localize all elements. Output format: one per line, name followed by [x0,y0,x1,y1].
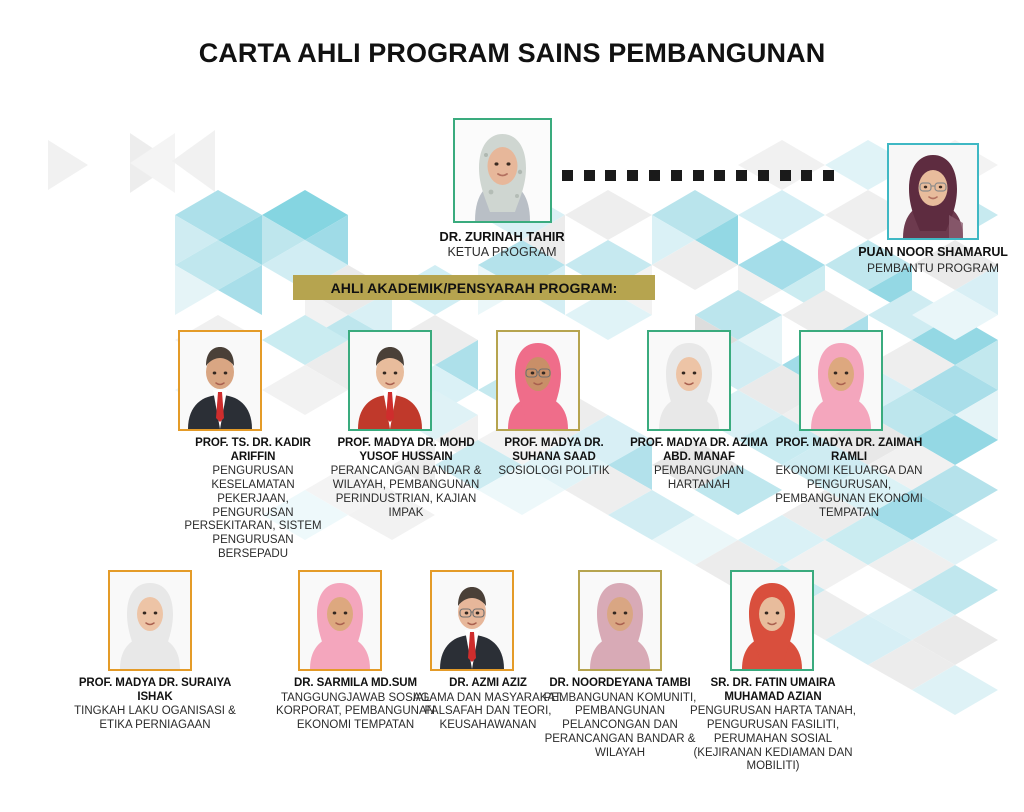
person-card[interactable]: PROF. MADYA DR. AZIMA ABD. MANAFPEMBANGU… [629,330,769,493]
person-card[interactable]: PROF. TS. DR. KADIR ARIFFINPENGURUSAN KE… [178,330,328,562]
person-name: PROF. MADYA DR. SUHANA SAAD [484,437,624,464]
portrait-image [801,332,881,429]
person-card[interactable]: PROF. MADYA DR. ZAIMAH RAMLIEKONOMI KELU… [774,330,924,520]
connector-dot [780,170,791,181]
portrait-image [732,572,812,669]
person-role: TINGKAH LAKU OGANISASI & ETIKA PERNIAGAA… [60,705,250,733]
person-card[interactable]: PROF. MADYA DR. SUHANA SAADSOSIOLOGI POL… [484,330,624,479]
photo-frame [430,570,514,671]
person-name: SR. DR. FATIN UMAIRA MUHAMAD AZIAN [688,677,858,704]
person-name: PROF. TS. DR. KADIR ARIFFIN [178,437,328,464]
portrait-image [498,332,578,429]
person-name: PUAN NOOR SHAMARUL [845,245,1021,260]
photo-frame [799,330,883,431]
portrait-image [180,332,260,429]
photo-frame [108,570,192,671]
person-name: DR. NOORDEYANA TAMBI [540,677,700,691]
person-card[interactable]: PROF. MADYA DR. MOHD YUSOF HUSSAINPERANC… [330,330,482,520]
portrait-image [300,572,380,669]
connector-dot [693,170,704,181]
photo-frame [348,330,432,431]
photo-frame [496,330,580,431]
person-role: PEMBANGUNAN HARTANAH [629,465,769,493]
section-banner-label: AHLI AKADEMIK/PENSYARAH PROGRAM: [331,280,618,296]
photo-frame [298,570,382,671]
connector-dot [801,170,812,181]
photo-frame-zurinah-tahir [453,118,552,223]
photo-frame [578,570,662,671]
portrait-image [350,332,430,429]
person-card[interactable]: DR. NOORDEYANA TAMBIPEMBANGUNAN KOMUNITI… [540,570,700,761]
person-role: KETUA PROGRAM [412,245,592,260]
person-role: SOSIOLOGI POLITIK [484,465,624,479]
portrait-image [432,572,512,669]
photo-frame [730,570,814,671]
photo-frame [178,330,262,431]
connector-dot [671,170,682,181]
person-card-ketua-program[interactable]: DR. ZURINAH TAHIR KETUA PROGRAM [412,118,592,260]
photo-frame [647,330,731,431]
connector-dot [823,170,834,181]
person-name: DR. ZURINAH TAHIR [412,229,592,244]
person-name: PROF. MADYA DR. AZIMA ABD. MANAF [629,437,769,464]
person-role: EKONOMI KELUARGA DAN PENGURUSAN, PEMBANG… [774,465,924,520]
connector-dot [714,170,725,181]
person-role: PENGURUSAN KESELAMATAN PEKERJAAN, PENGUR… [178,465,328,562]
connector-dot [649,170,660,181]
person-role: PERANCANGAN BANDAR & WILAYAH, PEMBANGUNA… [330,465,482,520]
connector-dot [627,170,638,181]
person-role: PENGURUSAN HARTA TANAH, PENGURUSAN FASIL… [688,705,858,774]
photo-frame-noor-shamarul [887,143,979,240]
portrait-noor-shamarul [889,145,977,238]
portrait-image [110,572,190,669]
portrait-image [649,332,729,429]
person-name: PROF. MADYA DR. SURAIYA ISHAK [60,677,250,704]
connector-dot [758,170,769,181]
connector-dot [736,170,747,181]
person-card[interactable]: PROF. MADYA DR. SURAIYA ISHAKTINGKAH LAK… [60,570,250,733]
section-banner-ahli-akademik: AHLI AKADEMIK/PENSYARAH PROGRAM: [293,275,655,300]
person-name: PROF. MADYA DR. ZAIMAH RAMLI [774,437,924,464]
person-role: PEMBANTU PROGRAM [845,261,1021,275]
portrait-image [580,572,660,669]
person-name: PROF. MADYA DR. MOHD YUSOF HUSSAIN [330,437,482,464]
person-role: PEMBANGUNAN KOMUNITI, PEMBANGUNAN PELANC… [540,692,700,761]
person-card-pembantu-program[interactable]: PUAN NOOR SHAMARUL PEMBANTU PROGRAM [845,143,1021,275]
page-title: CARTA AHLI PROGRAM SAINS PEMBANGUNAN [0,38,1024,69]
connector-dot [605,170,616,181]
portrait-zurinah-tahir [455,120,550,221]
person-card[interactable]: SR. DR. FATIN UMAIRA MUHAMAD AZIANPENGUR… [688,570,858,774]
